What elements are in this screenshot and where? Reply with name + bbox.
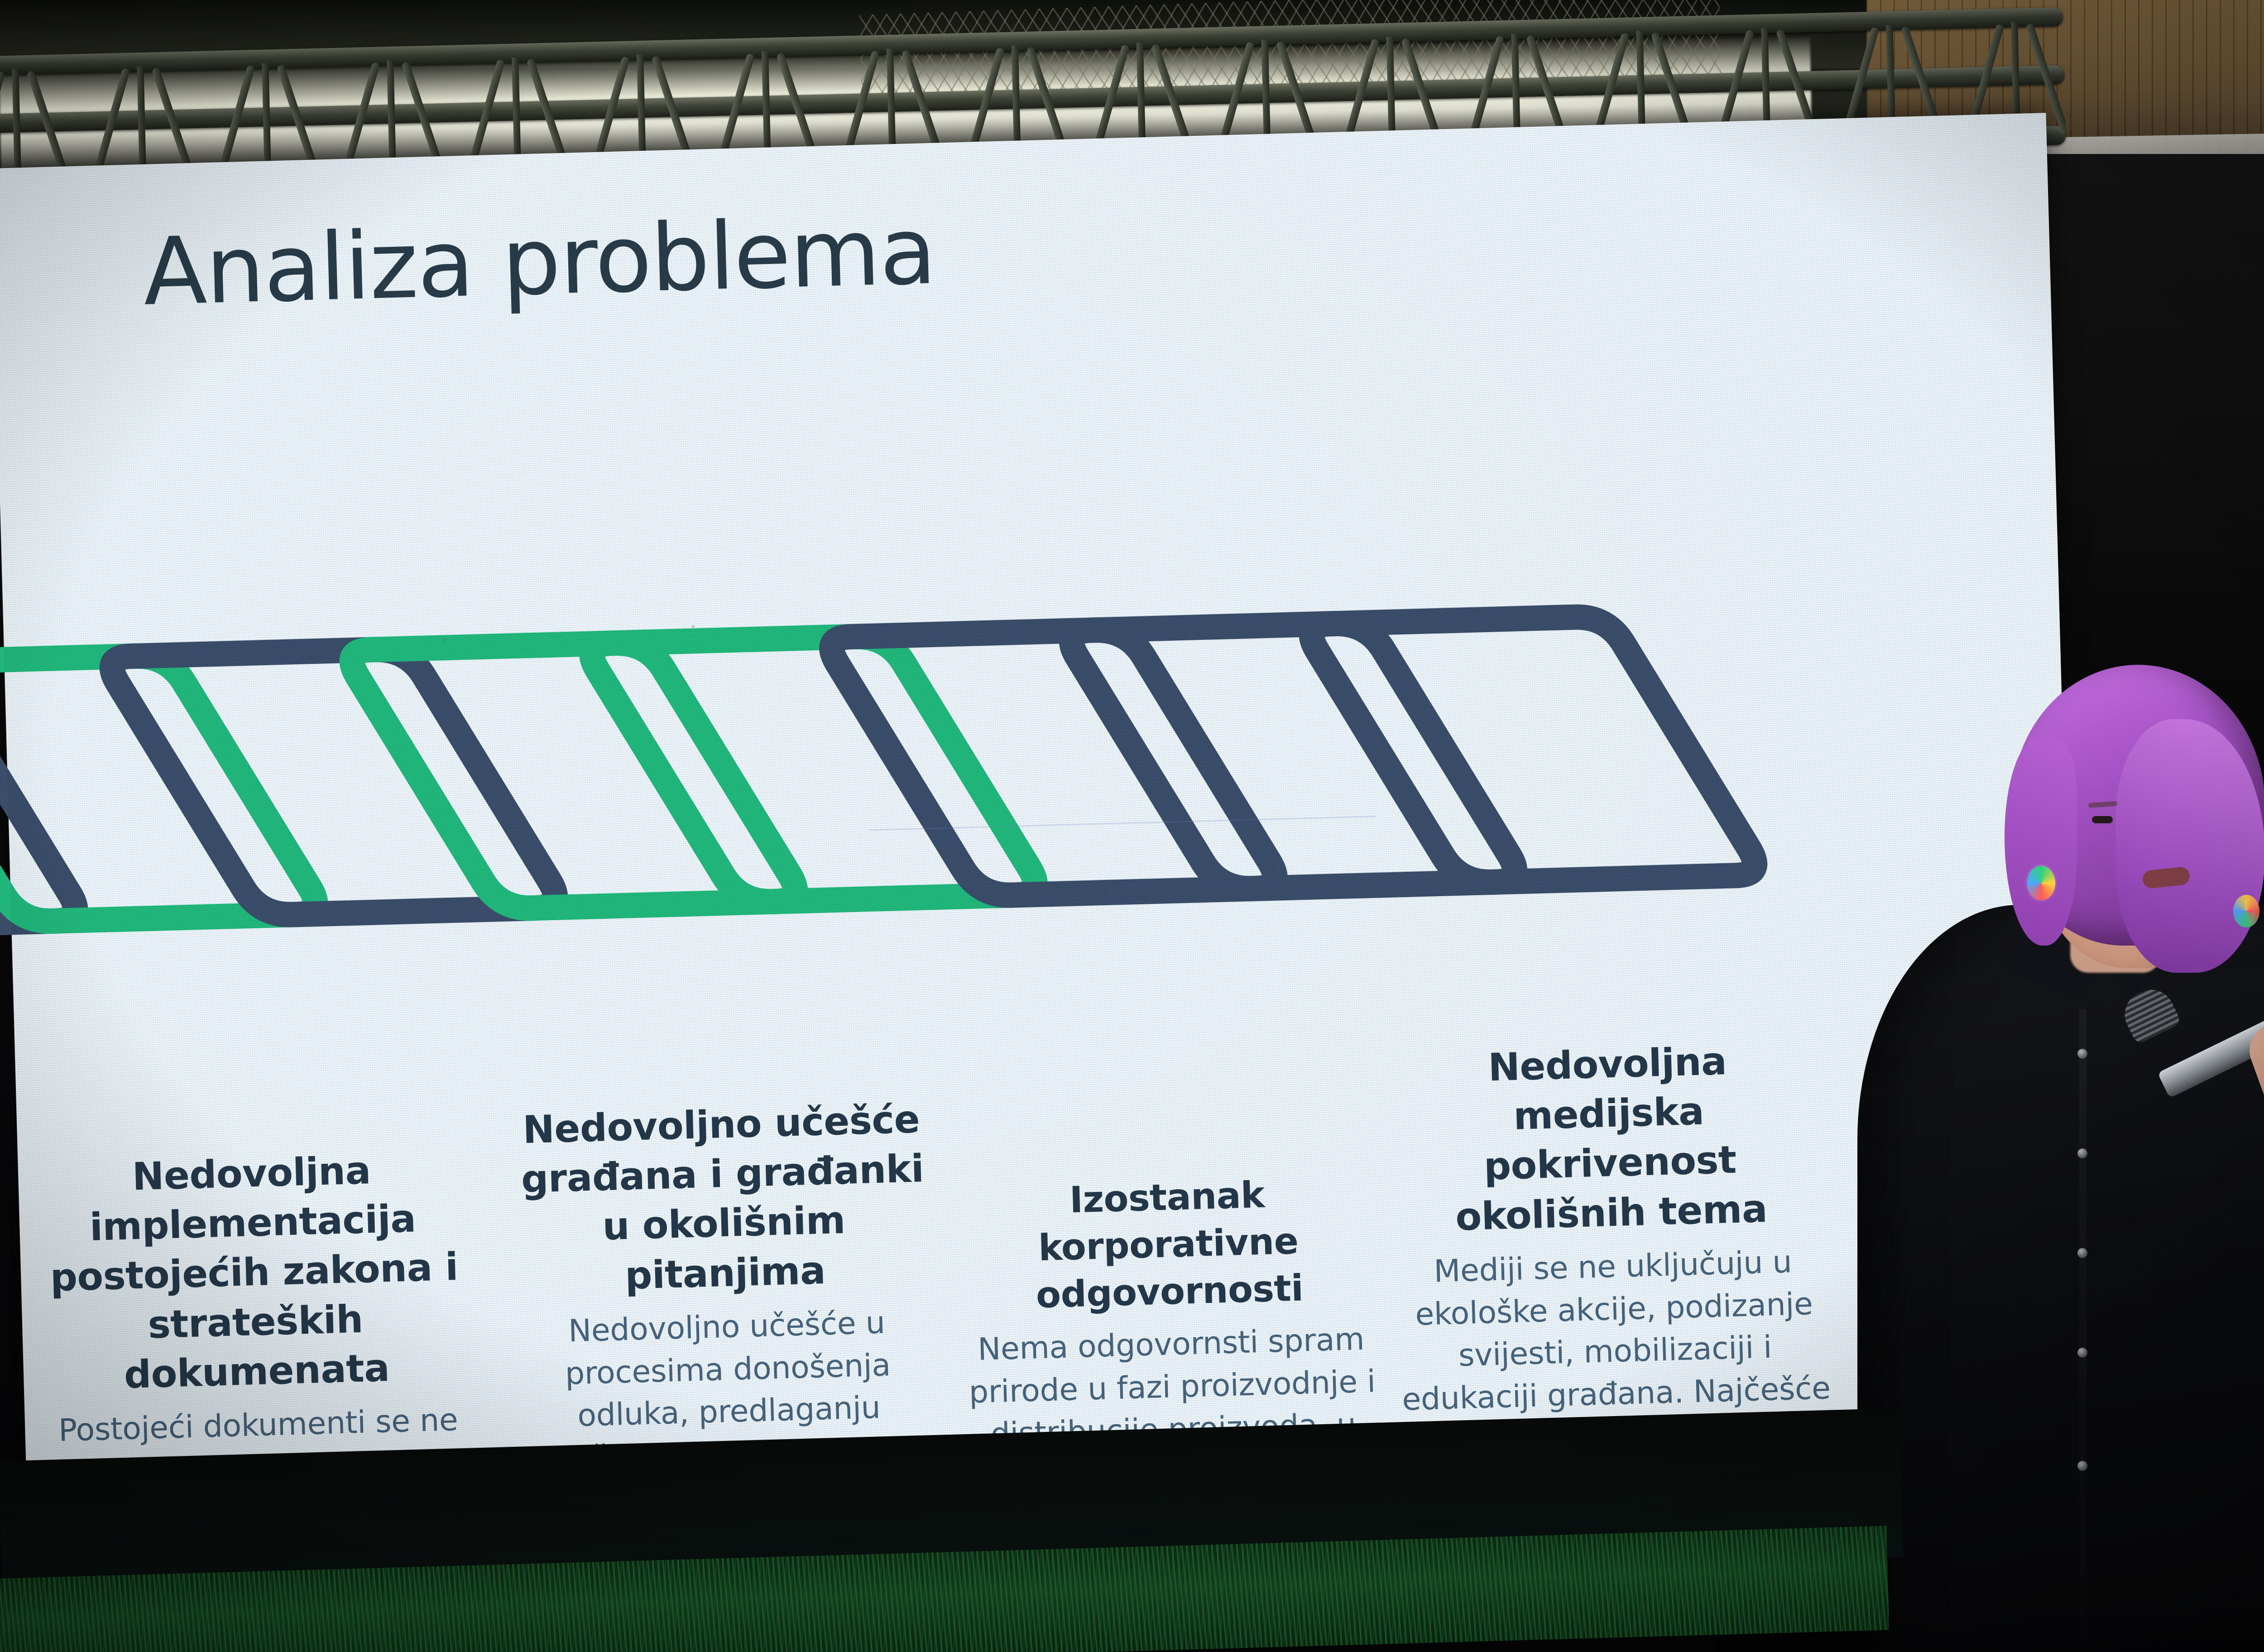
problem-heading-2: Nedovoljno učešće građana i građanki u o…: [505, 1094, 940, 1303]
venue-background: Analiza problema: [0, 0, 2264, 1652]
presentation-slide: Analiza problema: [0, 113, 2084, 1575]
shirt-button: [2077, 1248, 2087, 1258]
led-screen: Analiza problema: [0, 113, 2084, 1575]
speaker-torso: [1857, 905, 2264, 1652]
shirt-button: [2077, 1461, 2087, 1471]
earring-right: [2233, 895, 2259, 927]
problem-heading-3: Izostanak korporativne odgovornosti: [951, 1168, 1385, 1321]
shirt-placket: [2079, 1009, 2087, 1634]
page-title: Analiza problema: [142, 197, 937, 327]
earring-left: [2027, 866, 2055, 900]
shirt-button: [2077, 1348, 2087, 1358]
shirt-button: [2077, 1148, 2087, 1158]
problem-heading-1: Nedovoljna implementacija postojećih zak…: [36, 1143, 472, 1402]
shirt-button: [2077, 1049, 2087, 1059]
hexagon-chain-graphic: [0, 573, 1787, 969]
eye-left: [2092, 816, 2113, 823]
problem-heading-4: Nedovoljna medijska pokrivenost okolišni…: [1392, 1034, 1827, 1243]
led-screen-surface: Analiza problema: [0, 113, 2084, 1575]
